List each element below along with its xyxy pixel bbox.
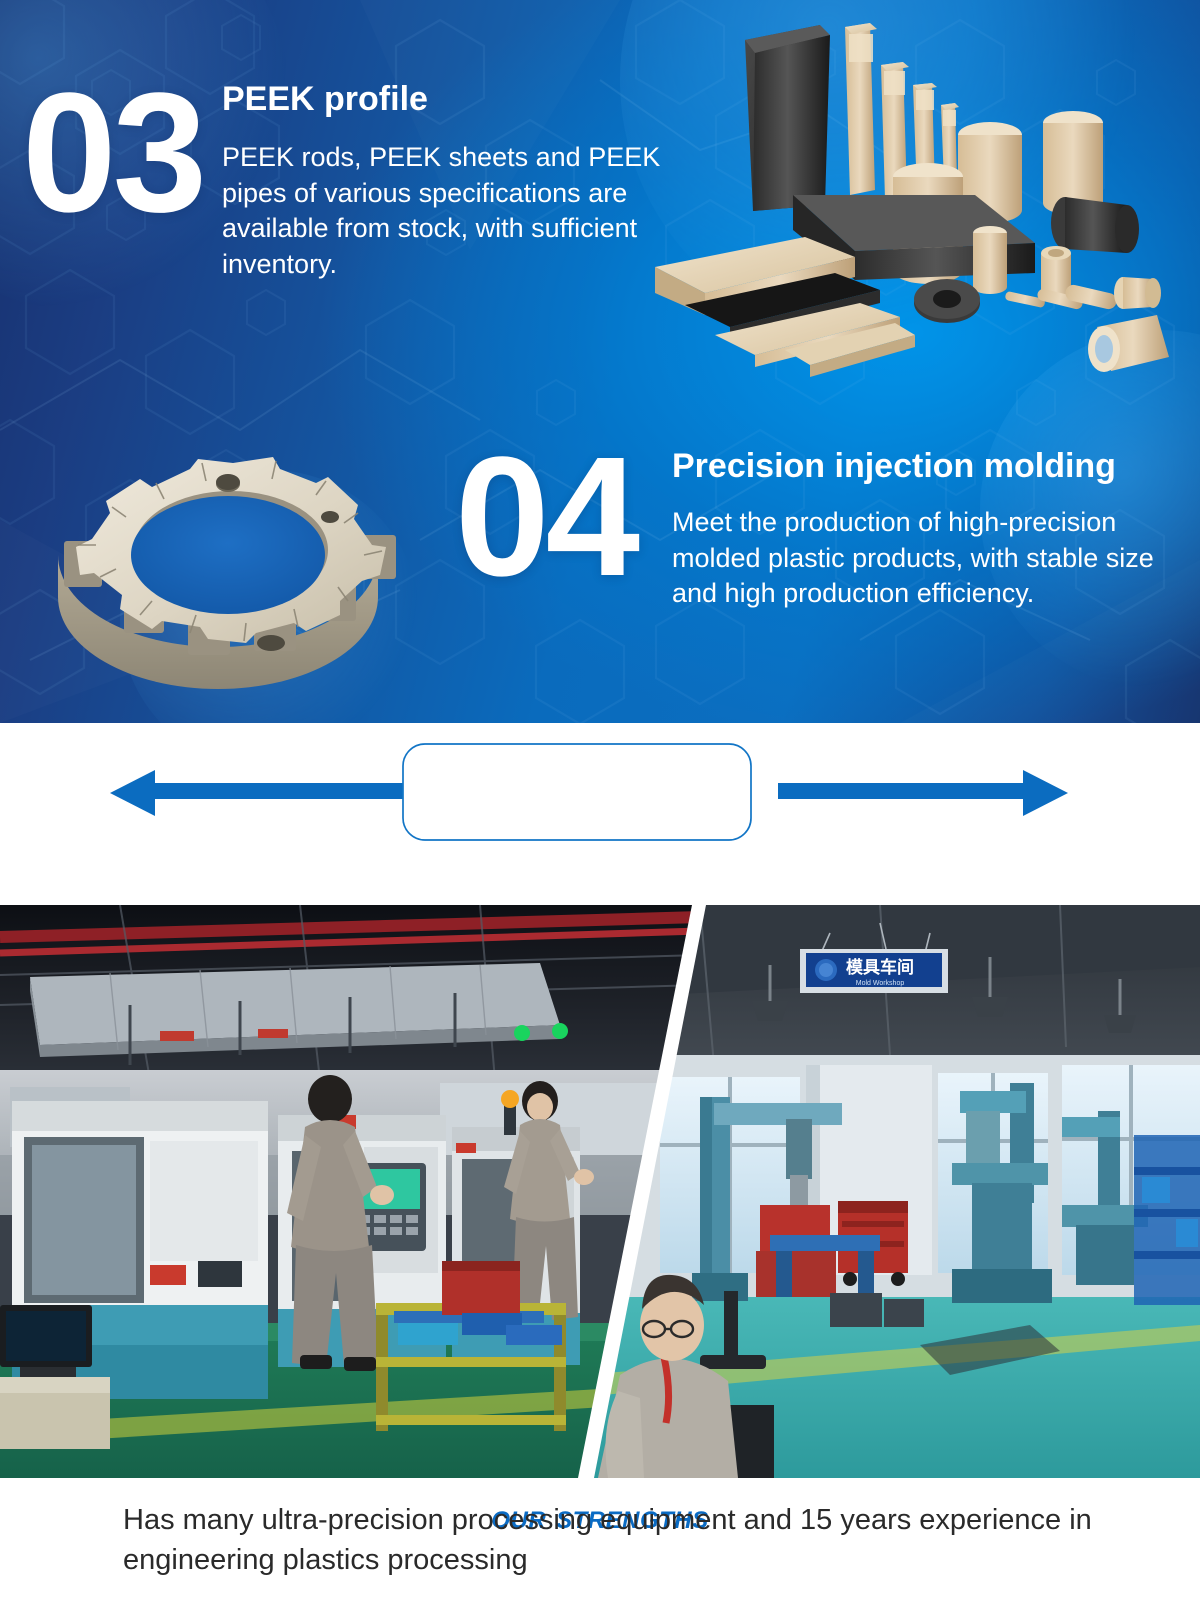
- block-number-04: 04: [455, 432, 636, 602]
- cnc-machining-workshop-photo: [0, 905, 700, 1478]
- block-title-04: Precision injection molding: [672, 448, 1116, 485]
- block-title-03: PEEK profile: [222, 81, 428, 118]
- svg-text:Mold Workshop: Mold Workshop: [856, 980, 905, 987]
- right-arrow: [778, 770, 1068, 816]
- block-body-04: Meet the production of high-precision mo…: [672, 505, 1200, 612]
- page-root: 03 PEEK profile PEEK rods, PEEK sheets a…: [0, 0, 1200, 1616]
- svg-text:模具车间: 模具车间: [846, 957, 914, 977]
- left-arrow: [110, 770, 422, 816]
- block-number-03: 03: [22, 68, 203, 238]
- bottom-caption: Has many ultra-precision processing equi…: [123, 1500, 1113, 1580]
- storage-shelving: [1134, 1135, 1200, 1305]
- workshop-photo-strip: 模具车间 Mold Workshop: [0, 905, 1200, 1478]
- peek-machined-gear-ring-photo: [28, 395, 438, 695]
- hero-blue-panel: 03 PEEK profile PEEK rods, PEEK sheets a…: [0, 0, 1200, 723]
- our-strengths-banner: Our strengths: [0, 723, 1200, 905]
- peek-profile-products-photo: [645, 5, 1200, 380]
- block-body-03: PEEK rods, PEEK sheets and PEEK pipes of…: [222, 140, 662, 283]
